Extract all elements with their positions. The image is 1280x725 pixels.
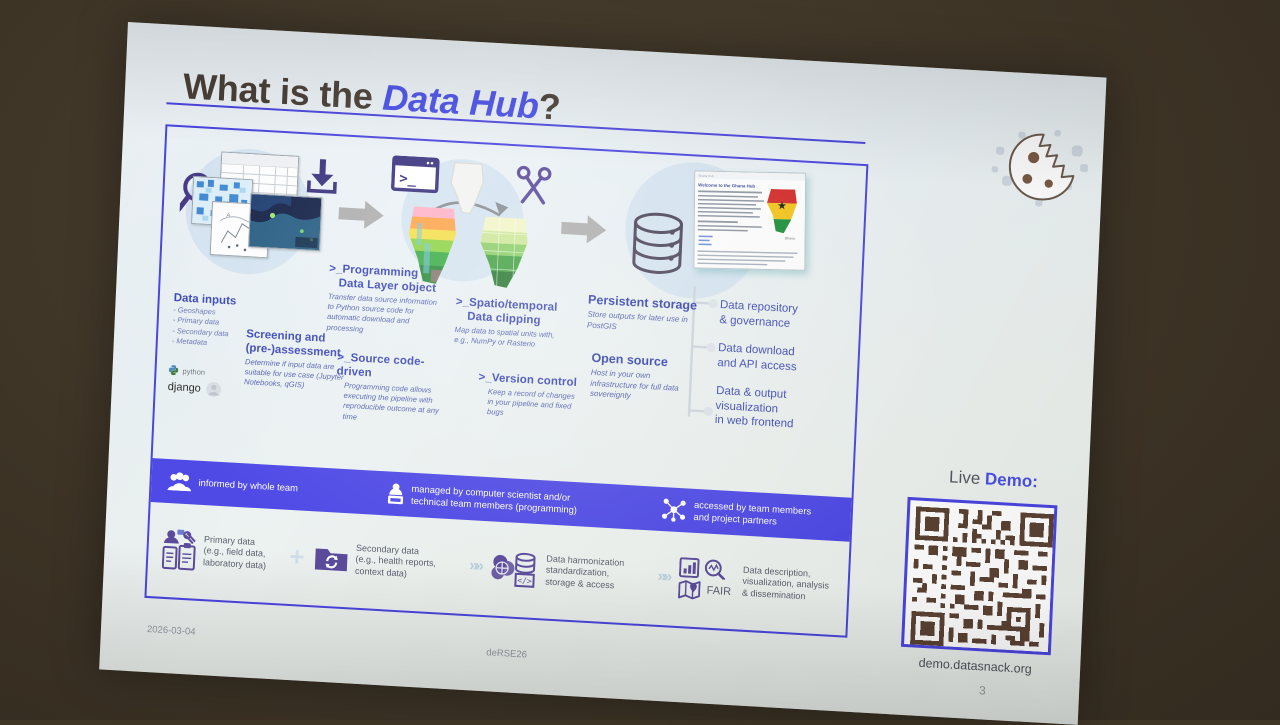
map-pin-icon: [678, 579, 701, 600]
projection-screen: What is the Data Hub?: [0, 0, 1280, 720]
slide-canvas: What is the Data Hub?: [99, 22, 1106, 725]
user-circle-icon: [205, 381, 222, 398]
footer-event: deRSE26: [486, 647, 527, 660]
demo-heading-plain: Live: [949, 467, 986, 488]
bar-chart-icon: [679, 557, 700, 578]
footer-page-number: 3: [979, 683, 986, 697]
tech-logos: python django: [167, 365, 222, 398]
role-managed: managed by computer scientist and/or tec…: [387, 481, 616, 518]
chevrons-icon-2: »»: [657, 568, 670, 587]
demo-heading-bold: Demo:: [985, 469, 1039, 491]
flow-arrow-2: [561, 213, 608, 246]
footer-date: 2026-03-04: [147, 624, 196, 638]
spatio-body: Map data to spatial units with, e.g., Nu…: [454, 325, 567, 352]
role-managed-label: managed by computer scientist and/or tec…: [411, 483, 578, 516]
cookie-logo: [983, 119, 1099, 215]
lifecycle-secondary-data: Secondary data (e.g., health reports, co…: [314, 540, 462, 583]
datahub-diagram-panel: A: [144, 124, 868, 637]
source-code-body: Programming code allows executing the pi…: [334, 380, 448, 427]
output-item-1: Data download and API access: [717, 341, 848, 377]
lifecycle-harmonization: </> Data harmonization standardization, …: [490, 547, 650, 596]
output-item-0: Data repository & governance: [719, 298, 850, 334]
svg-text:Ghana: Ghana: [785, 236, 795, 240]
version-control-body: Keep a record of changes in your pipelin…: [477, 386, 582, 422]
demo-qr-code[interactable]: [901, 497, 1057, 655]
output-item-2: Data & output visualization in web front…: [715, 384, 847, 435]
flow-arrow-1: [338, 198, 385, 231]
text-version-control: >_Version control Keep a record of chang…: [477, 370, 583, 422]
lifecycle-harmonization-label: Data harmonization standardization, stor…: [545, 553, 624, 592]
text-spatio: >_Spatio/temporal Data clipping Map data…: [454, 295, 568, 352]
pipeline-flow: A: [153, 126, 867, 495]
analysis-magnifier-icon: [704, 559, 727, 580]
role-informed-label: informed by whole team: [198, 477, 298, 495]
lifecycle-primary-data: Primary data (e.g., field data, laborato…: [162, 528, 291, 577]
scissors-icon: [514, 164, 554, 206]
field-survey-icon: [162, 528, 198, 572]
title-part-2: ?: [538, 85, 562, 127]
text-source-code: >_Source code-driven Programming code al…: [334, 350, 449, 427]
persistent-storage-body: Store outputs for later use in PostGIS: [587, 310, 698, 337]
fair-badge: FAIR: [706, 585, 731, 598]
lifecycle-description-label: Data description, visualization, analysi…: [742, 564, 830, 604]
lifecycle-secondary-label: Secondary data (e.g., health reports, co…: [355, 542, 437, 581]
svg-text:>_: >_: [399, 171, 417, 188]
demo-heading: Live Demo:: [898, 464, 1089, 495]
screening-body: Determine if input data are suitable for…: [244, 357, 349, 393]
people-icon: [167, 471, 192, 492]
chevrons-icon: »»: [469, 557, 482, 576]
programming-body: Transfer data source information to Pyth…: [326, 292, 438, 339]
ghana-clipped-map: [472, 212, 535, 295]
svg-text:Ghana Hub: Ghana Hub: [698, 174, 714, 178]
python-label: python: [182, 366, 205, 376]
database-code-icon: </>: [490, 547, 540, 590]
web-frontend-screenshot: Ghana Hub Welcome to the Ghana Hub: [693, 170, 806, 270]
satellite-map-thumbnail: [248, 193, 322, 251]
source-code-heading: >_Source code-driven: [336, 350, 449, 384]
role-informed: informed by whole team: [167, 471, 358, 502]
plus-separator: +: [289, 543, 305, 570]
lifecycle-primary-label: Primary data (e.g., field data, laborato…: [203, 534, 267, 572]
svg-text:★: ★: [777, 200, 787, 212]
role-accessed-label: accessed by team members and project par…: [693, 499, 811, 530]
qr-code-image: [910, 506, 1054, 652]
role-accessed: accessed by team members and project par…: [660, 497, 851, 532]
page-title: What is the Data Hub?: [182, 65, 561, 128]
python-icon: [168, 365, 178, 376]
output-list: Data repository & governance Data downlo…: [715, 298, 851, 435]
text-screening: Screening and (pre-)assessment Determine…: [244, 327, 351, 393]
folder-sync-icon: [314, 543, 349, 573]
database-icon: [629, 211, 686, 276]
person-monitor-icon: [387, 482, 405, 505]
django-label: django: [168, 381, 202, 395]
download-icon: [305, 156, 341, 196]
text-open-source: Open source Host in your own infrastruct…: [590, 351, 684, 405]
svg-text:</>: </>: [517, 576, 532, 586]
demo-url: demo.datasnack.org: [880, 654, 1070, 679]
svg-text:A: A: [226, 213, 230, 219]
lifecycle-description: FAIR Data description, visualization, an…: [678, 557, 848, 609]
network-icon: [660, 497, 687, 522]
text-persistent-storage: Persistent storage Store outputs for lat…: [587, 293, 699, 337]
text-programming: >_Programming Data Layer object Transfer…: [326, 262, 439, 339]
open-source-body: Host in your own infrastructure for full…: [590, 368, 683, 405]
